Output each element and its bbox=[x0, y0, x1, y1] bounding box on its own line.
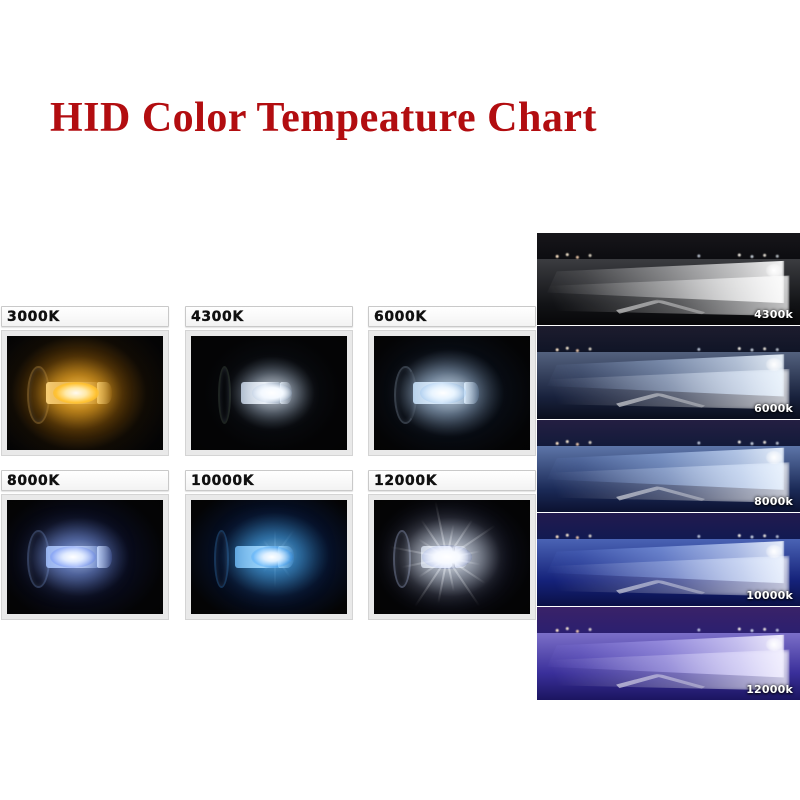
beam-headlamp-hotspot bbox=[766, 358, 782, 371]
bulb-arc-core bbox=[252, 383, 292, 403]
bulb-arc-core bbox=[422, 545, 472, 569]
beam-headlamp-hotspot bbox=[766, 545, 782, 558]
beam-city-lights bbox=[542, 438, 794, 446]
bulb-arc-core bbox=[53, 382, 99, 404]
bulb-label-bar-12000k: 12000K bbox=[368, 470, 536, 491]
beam-city-lights bbox=[542, 251, 794, 259]
bulb-photo-10000k bbox=[185, 494, 353, 620]
bulb-photo-12000k bbox=[368, 494, 536, 620]
bulb-comparison-grid: 3000K 4300K bbox=[0, 306, 537, 646]
beam-panel-10000k[interactable]: 10000k bbox=[537, 513, 800, 606]
bulb-electrode-tip bbox=[97, 382, 111, 405]
bulb-label-bar-8000k: 8000K bbox=[1, 470, 169, 491]
bulb-electrode-tip bbox=[464, 382, 478, 405]
bulb-cell-3000k[interactable]: 3000K bbox=[0, 306, 172, 471]
bulb-cell-6000k[interactable]: 6000K bbox=[367, 306, 539, 471]
bulb-label-text: 10000K bbox=[191, 473, 254, 489]
bulb-label-text: 8000K bbox=[7, 473, 60, 489]
bulb-label-bar-10000k: 10000K bbox=[185, 470, 353, 491]
bulb-arc-core bbox=[251, 546, 293, 568]
bulb-arc-core bbox=[50, 546, 96, 568]
bulb-photo-3000k bbox=[1, 330, 169, 456]
bulb-label-text: 12000K bbox=[374, 473, 437, 489]
bulb-label-text: 4300K bbox=[191, 309, 244, 325]
beam-headlamp-hotspot bbox=[766, 638, 782, 651]
bulb-arc-core bbox=[420, 382, 466, 404]
beam-label-4300k: 4300k bbox=[754, 308, 793, 321]
bulb-photo-4300k bbox=[185, 330, 353, 456]
bulb-photo-6000k bbox=[368, 330, 536, 456]
beam-label-12000k: 12000k bbox=[746, 683, 793, 696]
beam-headlamp-hotspot bbox=[766, 451, 782, 464]
bulb-cell-4300k[interactable]: 4300K bbox=[184, 306, 356, 471]
bulb-photo-8000k bbox=[1, 494, 169, 620]
bulb-cell-12000k[interactable]: 12000K bbox=[367, 470, 539, 635]
bulb-label-bar-6000k: 6000K bbox=[368, 306, 536, 327]
beam-panel-8000k[interactable]: 8000k bbox=[537, 420, 800, 513]
beam-label-8000k: 8000k bbox=[754, 495, 793, 508]
bulb-label-bar-3000k: 3000K bbox=[1, 306, 169, 327]
bulb-label-text: 6000K bbox=[374, 309, 427, 325]
beam-panel-6000k[interactable]: 6000k bbox=[537, 326, 800, 419]
beam-city-lights bbox=[542, 345, 794, 353]
beam-label-10000k: 10000k bbox=[746, 589, 793, 602]
bulb-reflector-cup-icon bbox=[218, 366, 231, 425]
bulb-label-text: 3000K bbox=[7, 309, 60, 325]
bulb-electrode-tip bbox=[97, 546, 111, 569]
beam-city-lights bbox=[542, 625, 794, 633]
beam-panel-4300k[interactable]: 4300k bbox=[537, 233, 800, 326]
beam-city-lights bbox=[542, 532, 794, 540]
bulb-label-bar-4300k: 4300K bbox=[185, 306, 353, 327]
bulb-cell-10000k[interactable]: 10000K bbox=[184, 470, 356, 635]
bulb-cell-8000k[interactable]: 8000K bbox=[0, 470, 172, 635]
beam-label-6000k: 6000k bbox=[754, 402, 793, 415]
beam-panel-12000k[interactable]: 12000k bbox=[537, 607, 800, 700]
beam-comparison-column: 4300k 6000k 8000k 10000k bbox=[537, 233, 800, 700]
page-title: HID Color Tempeature Chart bbox=[50, 96, 597, 140]
bulb-reflector-cup-icon bbox=[393, 530, 411, 589]
